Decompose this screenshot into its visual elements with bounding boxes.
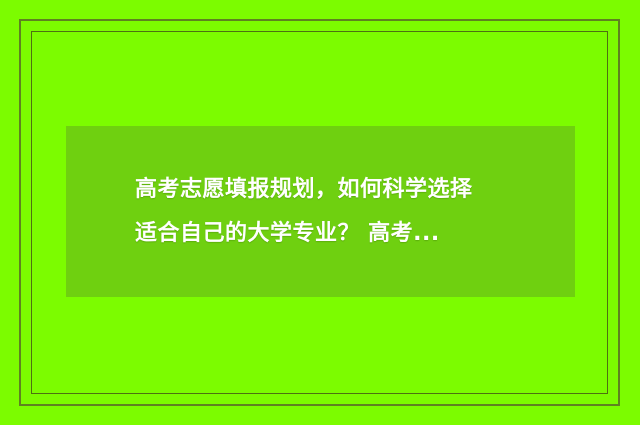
headline-panel: 高考志愿填报规划，如何科学选择 适合自己的大学专业？ 高考...	[66, 126, 575, 297]
headline-line-2: 适合自己的大学专业？ 高考...	[135, 212, 557, 256]
thumbnail-card: 高考志愿填报规划，如何科学选择 适合自己的大学专业？ 高考...	[0, 0, 640, 425]
headline-line-1: 高考志愿填报规划，如何科学选择	[135, 168, 557, 212]
